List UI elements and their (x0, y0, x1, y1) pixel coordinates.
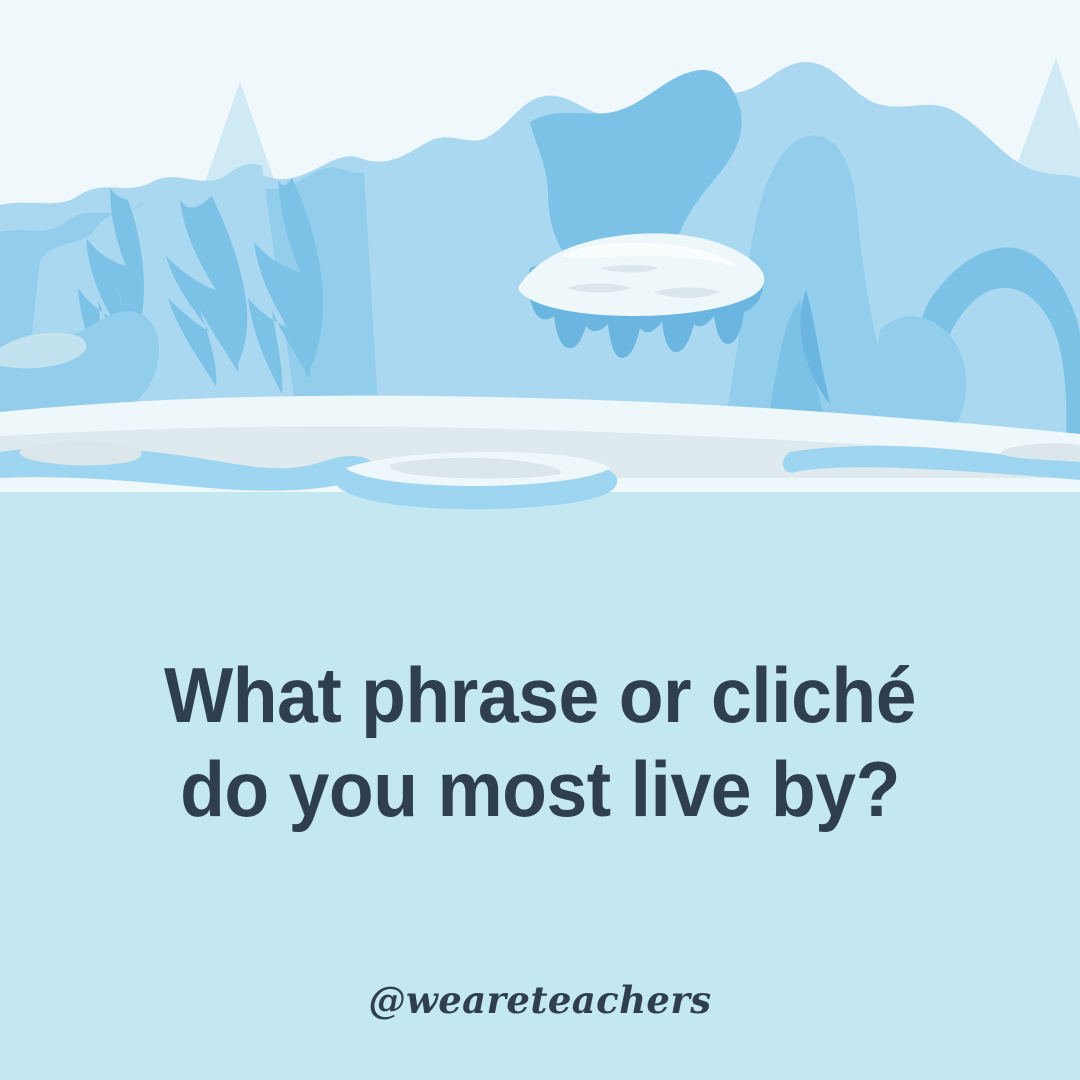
quote-card: What phrase or cliché do you most live b… (0, 0, 1080, 1080)
question-line-2: do you most live by? (32, 742, 1047, 836)
question-line-1: What phrase or cliché (32, 648, 1047, 742)
watermark-handle: @weareteachers (0, 978, 1080, 1022)
question-text: What phrase or cliché do you most live b… (0, 648, 1080, 836)
iceberg-illustration (0, 0, 1080, 1080)
